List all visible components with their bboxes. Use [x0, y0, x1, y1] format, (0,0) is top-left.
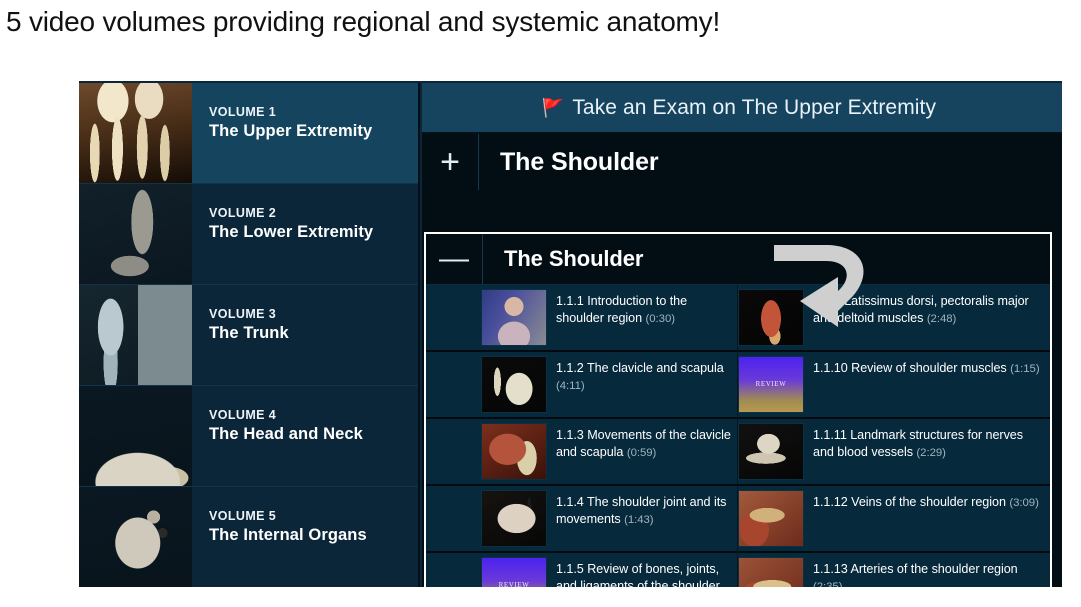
video-text: 1.1.5 Review of bones, joints, and ligam…: [547, 553, 737, 587]
volume-title: The Internal Organs: [209, 526, 418, 545]
video-list-grid: 1.1.1 Introduction to the shoulder regio…: [426, 284, 1050, 587]
video-thumbnail-image: [482, 357, 546, 412]
video-thumbnail-image: [482, 491, 546, 546]
volume-kicker: VOLUME 3: [209, 307, 418, 321]
video-thumbnail-image: [739, 357, 803, 412]
video-thumbnail[interactable]: [481, 423, 547, 480]
video-column-left: 1.1.1 Introduction to the shoulder regio…: [426, 285, 738, 587]
volume-title: The Head and Neck: [209, 425, 418, 444]
volume-thumbnail: [79, 83, 192, 183]
video-thumbnail[interactable]: [738, 490, 804, 547]
video-thumbnail-image: [482, 558, 546, 587]
volume-text: VOLUME 2The Lower Extremity: [192, 184, 418, 284]
sidebar-item-volume-4[interactable]: VOLUME 4The Head and Neck: [79, 386, 418, 487]
video-duration: (2:35): [813, 581, 842, 587]
video-column-right: 1.1.9 Latissimus dorsi, pectoralis major…: [738, 285, 1050, 587]
video-duration: (3:09): [1009, 497, 1038, 509]
list-item[interactable]: 1.1.5 Review of bones, joints, and ligam…: [426, 553, 737, 587]
volume-thumbnail: [79, 487, 192, 587]
sidebar-item-volume-5[interactable]: VOLUME 5The Internal Organs: [79, 487, 418, 587]
video-duration: (0:59): [627, 447, 656, 459]
list-item[interactable]: 1.1.4 The shoulder joint and its movemen…: [426, 486, 737, 553]
video-thumbnail[interactable]: [738, 423, 804, 480]
video-duration: (2:48): [927, 313, 956, 325]
volume-text: VOLUME 1The Upper Extremity: [192, 83, 418, 183]
volume-kicker: VOLUME 1: [209, 105, 418, 119]
video-duration: (2:29): [916, 447, 945, 459]
video-title: 1.1.10 Review of shoulder muscles: [813, 361, 1007, 375]
volume-thumbnail: [79, 386, 192, 486]
take-exam-banner[interactable]: 🚩 Take an Exam on The Upper Extremity: [422, 83, 1062, 134]
volume-kicker: VOLUME 2: [209, 206, 418, 220]
sidebar-item-volume-1[interactable]: VOLUME 1The Upper Extremity: [79, 83, 418, 184]
video-text: 1.1.13 Arteries of the shoulder region (…: [804, 553, 1050, 587]
list-item[interactable]: 1.1.10 Review of shoulder muscles (1:15): [738, 352, 1050, 419]
video-thumbnail-image: [482, 424, 546, 479]
video-title: 1.1.13 Arteries of the shoulder region: [813, 562, 1018, 576]
video-thumbnail[interactable]: [481, 289, 547, 346]
volume-kicker: VOLUME 5: [209, 509, 418, 523]
volume-title: The Trunk: [209, 324, 418, 343]
sidebar-item-volume-3[interactable]: VOLUME 3The Trunk: [79, 285, 418, 386]
volume-thumbnail-image: [79, 487, 192, 587]
list-item[interactable]: 1.1.13 Arteries of the shoulder region (…: [738, 553, 1050, 587]
video-duration: (4:11): [556, 380, 585, 392]
video-text: 1.1.9 Latissimus dorsi, pectoralis major…: [804, 285, 1050, 350]
content-pane: 🚩 Take an Exam on The Upper Extremity + …: [422, 83, 1062, 587]
expanded-section-panel: — The Shoulder 1.1.1 Introduction to the…: [424, 232, 1052, 587]
video-thumbnail[interactable]: [738, 289, 804, 346]
video-thumbnail-image: [739, 491, 803, 546]
volume-text: VOLUME 4The Head and Neck: [192, 386, 418, 486]
video-text: 1.1.12 Veins of the shoulder region (3:0…: [804, 486, 1050, 551]
video-thumbnail[interactable]: [481, 557, 547, 587]
video-text: 1.1.3 Movements of the clavicle and scap…: [547, 419, 737, 484]
list-item[interactable]: 1.1.12 Veins of the shoulder region (3:0…: [738, 486, 1050, 553]
video-duration: (1:15): [1010, 363, 1039, 375]
volume-thumbnail: [79, 184, 192, 284]
volume-title: The Lower Extremity: [209, 223, 418, 242]
volume-thumbnail-image: [79, 83, 192, 183]
section-title-collapsed: The Shoulder: [479, 148, 659, 177]
list-item[interactable]: 1.1.11 Landmark structures for nerves an…: [738, 419, 1050, 486]
volume-thumbnail-image: [79, 184, 192, 284]
section-title-expanded: The Shoulder: [483, 246, 643, 272]
video-thumbnail[interactable]: [481, 356, 547, 413]
volume-text: VOLUME 3The Trunk: [192, 285, 418, 385]
take-exam-label: Take an Exam on The Upper Extremity: [572, 96, 936, 120]
video-thumbnail[interactable]: [738, 557, 804, 587]
volume-kicker: VOLUME 4: [209, 408, 418, 422]
volume-text: VOLUME 5The Internal Organs: [192, 487, 418, 587]
video-thumbnail-image: [482, 290, 546, 345]
video-text: 1.1.4 The shoulder joint and its movemen…: [547, 486, 737, 551]
collapse-icon[interactable]: —: [426, 234, 483, 284]
expand-icon[interactable]: +: [422, 134, 479, 190]
volume-thumbnail-image: [79, 386, 192, 486]
list-item[interactable]: 1.1.3 Movements of the clavicle and scap…: [426, 419, 737, 486]
video-text: 1.1.1 Introduction to the shoulder regio…: [547, 285, 737, 350]
course-player-window: VOLUME 1The Upper ExtremityVOLUME 2The L…: [79, 81, 1062, 587]
video-title: 1.1.5 Review of bones, joints, and ligam…: [556, 562, 720, 587]
video-title: 1.1.12 Veins of the shoulder region: [813, 495, 1006, 509]
video-thumbnail-image: [739, 290, 803, 345]
page-title: 5 video volumes providing regional and s…: [6, 6, 720, 38]
flag-icon: 🚩: [542, 99, 564, 117]
video-thumbnail[interactable]: [738, 356, 804, 413]
video-text: 1.1.2 The clavicle and scapula (4:11): [547, 352, 737, 417]
video-thumbnail[interactable]: [481, 490, 547, 547]
volume-title: The Upper Extremity: [209, 122, 418, 141]
sidebar-item-volume-2[interactable]: VOLUME 2The Lower Extremity: [79, 184, 418, 285]
volume-sidebar[interactable]: VOLUME 1The Upper ExtremityVOLUME 2The L…: [79, 83, 420, 587]
section-header-expanded[interactable]: — The Shoulder: [426, 234, 1050, 284]
list-item[interactable]: 1.1.2 The clavicle and scapula (4:11): [426, 352, 737, 419]
video-title: 1.1.9 Latissimus dorsi, pectoralis major…: [813, 294, 1029, 325]
section-header-collapsed[interactable]: + The Shoulder: [422, 134, 1062, 190]
video-text: 1.1.10 Review of shoulder muscles (1:15): [804, 352, 1050, 417]
video-duration: (1:43): [624, 514, 653, 526]
video-thumbnail-image: [739, 424, 803, 479]
video-thumbnail-image: [739, 558, 803, 587]
video-text: 1.1.11 Landmark structures for nerves an…: [804, 419, 1050, 484]
list-item[interactable]: 1.1.9 Latissimus dorsi, pectoralis major…: [738, 285, 1050, 352]
video-title: 1.1.2 The clavicle and scapula: [556, 361, 724, 375]
list-item[interactable]: 1.1.1 Introduction to the shoulder regio…: [426, 285, 737, 352]
video-duration: (0:30): [646, 313, 675, 325]
volume-thumbnail-image: [79, 285, 192, 385]
volume-thumbnail: [79, 285, 192, 385]
